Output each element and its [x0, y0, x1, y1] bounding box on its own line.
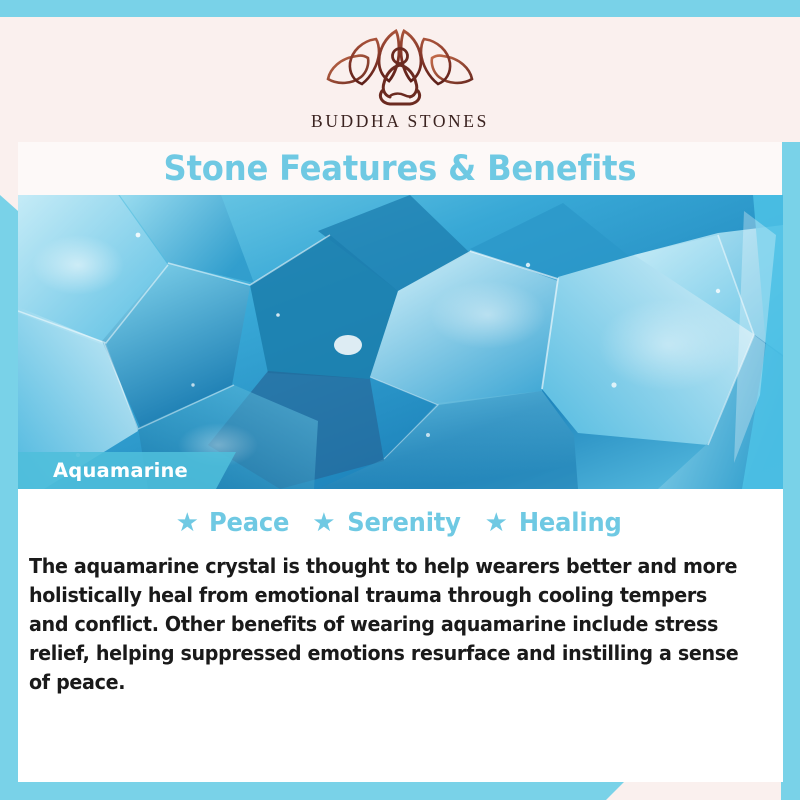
brand-header: BUDDHA STONES: [0, 17, 800, 142]
content-panel: ★ Peace ★ Serenity ★ Healing The aquamar…: [18, 489, 783, 782]
keyword-label: Healing: [519, 508, 622, 538]
keyword-list: ★ Peace ★ Serenity ★ Healing: [18, 489, 783, 538]
title-band: Stone Features & Benefits: [18, 142, 782, 195]
frame-bottom-strip: [0, 782, 624, 800]
frame-top-strip: [0, 0, 800, 17]
star-icon: ★: [485, 509, 508, 535]
page-title: Stone Features & Benefits: [164, 149, 637, 189]
keyword-item-serenity: ★ Serenity: [312, 508, 464, 538]
crystal-illustration: [18, 195, 783, 489]
star-icon: ★: [176, 509, 199, 535]
stone-name: Aquamarine: [53, 459, 188, 482]
frame-left-strip: [0, 195, 18, 800]
brand-name: BUDDHA STONES: [311, 111, 489, 132]
keyword-label: Serenity: [347, 508, 460, 538]
stone-name-banner: Aquamarine: [18, 452, 236, 489]
lotus-meditation-icon: [324, 25, 476, 109]
keyword-item-healing: ★ Healing: [485, 508, 626, 538]
keyword-item-peace: ★ Peace: [176, 508, 293, 538]
aquamarine-crystal-photo: [18, 195, 783, 489]
star-icon: ★: [312, 509, 335, 535]
stone-description: The aquamarine crystal is thought to hel…: [29, 552, 739, 697]
keyword-label: Peace: [209, 508, 289, 538]
stone-benefits-poster: BUDDHA STONES Stone Features & Benefits: [0, 0, 800, 800]
